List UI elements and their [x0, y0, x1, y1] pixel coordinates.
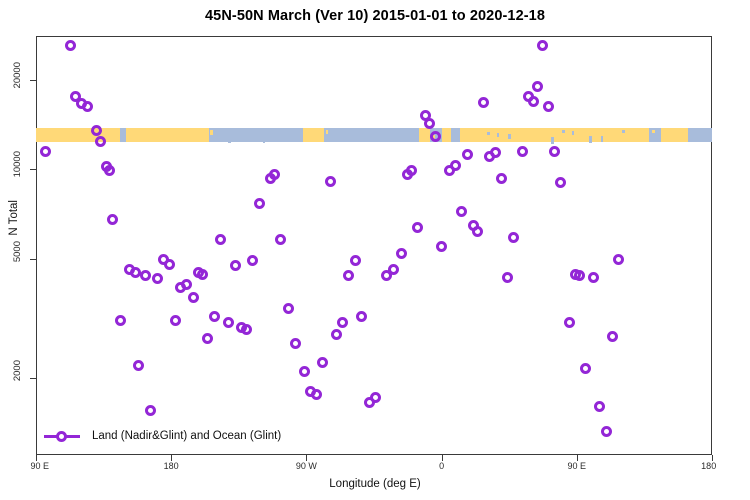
scatter-point [450, 160, 461, 171]
scatter-point [555, 177, 566, 188]
scatter-point [613, 254, 624, 265]
scatter-point [283, 303, 294, 314]
legend-line [44, 435, 80, 438]
map-land-fleck [138, 135, 140, 139]
plot-area [36, 36, 712, 455]
map-ocean-fleck [228, 136, 230, 143]
map-land-fleck [422, 135, 425, 142]
map-ocean-fleck [704, 131, 706, 134]
map-land-segment [303, 128, 324, 142]
scatter-point [496, 173, 507, 184]
map-land-fleck [652, 130, 655, 133]
legend: Land (Nadir&Glint) and Ocean (Glint) [44, 427, 281, 445]
scatter-point [532, 81, 543, 92]
map-ocean-fleck [497, 133, 499, 137]
scatter-point [170, 315, 181, 326]
scatter-point [254, 198, 265, 209]
map-ocean-segment [688, 128, 712, 142]
figure: 45N-50N March (Ver 10) 2015-01-01 to 202… [0, 0, 750, 500]
scatter-point [356, 311, 367, 322]
scatter-point [580, 363, 591, 374]
scatter-point [152, 273, 163, 284]
legend-marker-icon [56, 431, 67, 442]
x-axis-tick-label: 180 [701, 461, 716, 471]
scatter-point [104, 165, 115, 176]
scatter-point [202, 333, 213, 344]
map-land-segment [460, 128, 649, 142]
scatter-point [95, 136, 106, 147]
scatter-point [406, 165, 417, 176]
scatter-point [607, 331, 618, 342]
x-axis-tick-label: 0 [439, 461, 444, 471]
scatter-point [311, 389, 322, 400]
map-land-fleck [314, 132, 317, 135]
y-axis-tick-label: 5000 [12, 241, 23, 262]
x-axis-tick-label: 90 E [568, 461, 587, 471]
scatter-point [82, 101, 93, 112]
scatter-point [588, 272, 599, 283]
map-land-fleck [129, 133, 132, 140]
legend-label: Land (Nadir&Glint) and Ocean (Glint) [92, 430, 281, 442]
scatter-point [528, 96, 539, 107]
y-axis-tick [30, 259, 36, 260]
scatter-point [601, 426, 612, 437]
map-ocean-fleck [508, 134, 512, 139]
map-land-fleck [210, 130, 213, 135]
scatter-point [337, 317, 348, 328]
scatter-point [164, 259, 175, 270]
map-ocean-fleck [376, 134, 378, 140]
scatter-point [275, 234, 286, 245]
scatter-point [223, 317, 234, 328]
scatter-point [508, 232, 519, 243]
map-ocean-fleck [284, 131, 287, 134]
scatter-point [215, 234, 226, 245]
map-land-segment [36, 128, 120, 142]
scatter-point [517, 146, 528, 157]
map-ocean-fleck [601, 136, 603, 142]
scatter-point [230, 260, 241, 271]
map-ocean-fleck [551, 137, 554, 144]
scatter-point [549, 146, 560, 157]
scatter-point [188, 292, 199, 303]
scatter-point [370, 392, 381, 403]
map-ocean-segment [324, 128, 419, 142]
scatter-point [502, 272, 513, 283]
map-ocean-fleck [487, 132, 490, 135]
scatter-point [140, 270, 151, 281]
scatter-point [543, 101, 554, 112]
map-land-fleck [326, 130, 328, 134]
scatter-point [181, 279, 192, 290]
scatter-point [472, 226, 483, 237]
map-ocean-fleck [219, 134, 223, 138]
land-ocean-map-band [36, 128, 712, 142]
scatter-point [594, 401, 605, 412]
scatter-point [490, 147, 501, 158]
map-ocean-segment [451, 128, 460, 142]
scatter-point [574, 270, 585, 281]
scatter-point [91, 125, 102, 136]
map-land-fleck [665, 133, 667, 139]
scatter-point [65, 40, 76, 51]
scatter-point [115, 315, 126, 326]
map-ocean-fleck [562, 130, 565, 133]
scatter-point [325, 176, 336, 187]
scatter-point [241, 324, 252, 335]
page-title: 45N-50N March (Ver 10) 2015-01-01 to 202… [0, 8, 750, 24]
scatter-point [430, 131, 441, 142]
map-ocean-fleck [363, 134, 366, 141]
y-axis-tick [30, 378, 36, 379]
map-ocean-fleck [589, 136, 592, 143]
map-ocean-fleck [263, 137, 265, 143]
map-ocean-segment [649, 128, 661, 142]
map-ocean-fleck [398, 135, 402, 141]
y-axis-tick-label: 20000 [12, 62, 23, 88]
y-axis-tick [30, 80, 36, 81]
scatter-point [412, 222, 423, 233]
scatter-point [130, 267, 141, 278]
x-axis-tick-label: 90 W [296, 461, 317, 471]
map-ocean-fleck [351, 134, 356, 137]
y-axis-tick [30, 169, 36, 170]
scatter-point [396, 248, 407, 259]
scatter-point [209, 311, 220, 322]
map-ocean-fleck [249, 130, 252, 134]
y-axis-tick-label: 10000 [12, 151, 23, 177]
scatter-point [436, 241, 447, 252]
y-axis-tick-label: 2000 [12, 360, 23, 381]
map-ocean-fleck [697, 136, 700, 139]
scatter-point [331, 329, 342, 340]
scatter-point [456, 206, 467, 217]
map-land-fleck [446, 131, 448, 135]
y-axis-title: N Total [8, 200, 20, 236]
scatter-point [197, 269, 208, 280]
scatter-point [299, 366, 310, 377]
scatter-point [388, 264, 399, 275]
x-axis-tick-label: 180 [164, 461, 179, 471]
scatter-point [350, 255, 361, 266]
x-axis-title: Longitude (deg E) [0, 478, 750, 490]
map-ocean-fleck [572, 131, 574, 135]
scatter-point [269, 169, 280, 180]
map-ocean-fleck [622, 130, 626, 133]
scatter-point [317, 357, 328, 368]
scatter-point [478, 97, 489, 108]
scatter-point [462, 149, 473, 160]
scatter-point [343, 270, 354, 281]
scatter-point [247, 255, 258, 266]
scatter-point [107, 214, 118, 225]
scatter-point [290, 338, 301, 349]
x-axis-tick-label: 90 E [30, 461, 49, 471]
scatter-point [145, 405, 156, 416]
scatter-point [537, 40, 548, 51]
scatter-point [133, 360, 144, 371]
scatter-point [40, 146, 51, 157]
scatter-point [564, 317, 575, 328]
